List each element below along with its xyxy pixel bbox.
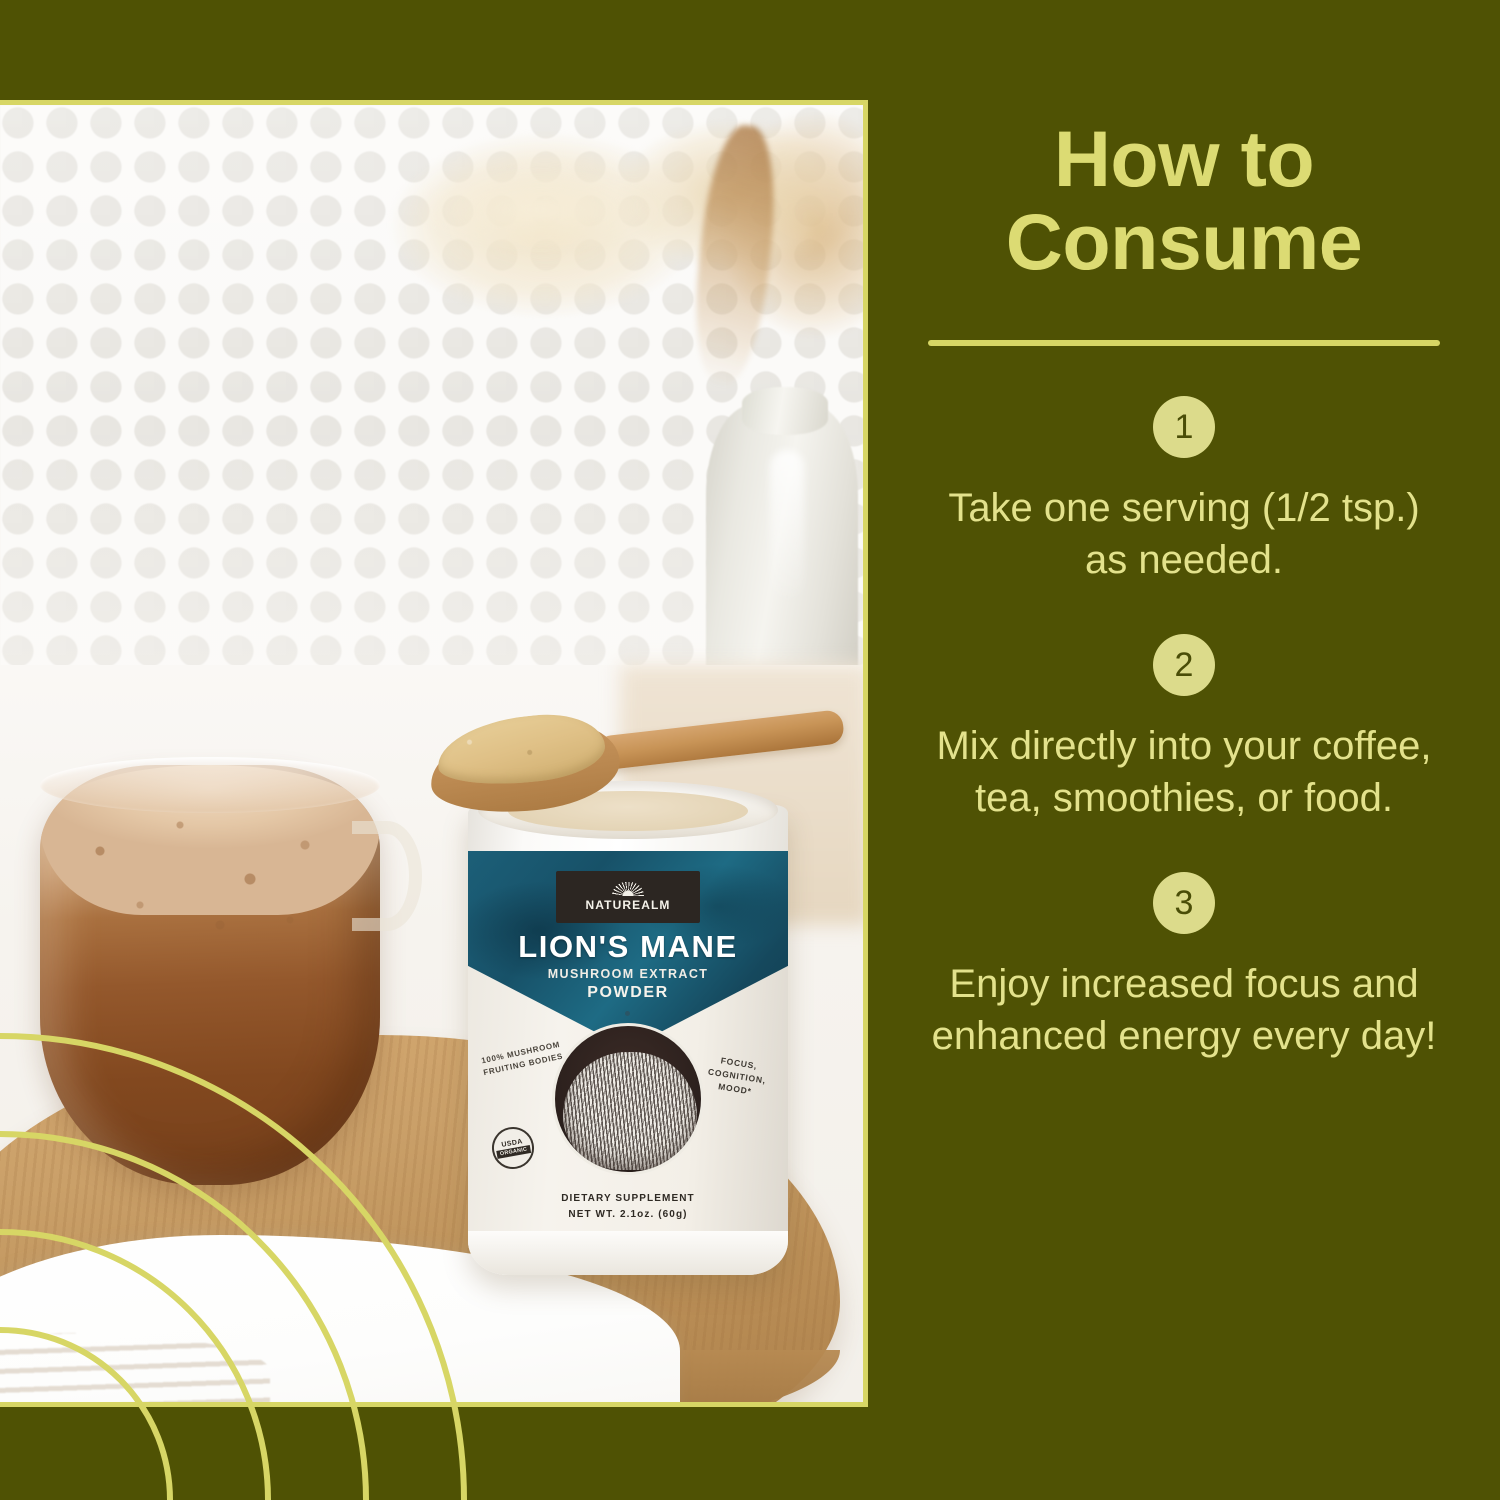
step-text-3: Enjoy increased focus and enhanced energ… [924, 958, 1444, 1062]
label-footer: DIETARY SUPPLEMENT NET WT. 2.1oz. (60g) [468, 1191, 788, 1222]
brand-name: NATUREALM [586, 898, 671, 912]
product-photo: NATUREALM LION'S MANE MUSHROOM EXTRACT P… [0, 105, 863, 1402]
label-subtitle-line1: MUSHROOM EXTRACT [468, 967, 788, 981]
glass-mug-of-coffee [40, 765, 380, 1185]
step-text-2: Mix directly into your coffee, tea, smoo… [924, 720, 1444, 824]
ceramic-vase-highlight [770, 450, 804, 600]
brand-plate: NATUREALM [556, 871, 700, 923]
step-number-badge-3: 3 [1153, 872, 1215, 934]
label-benefit-claim: FOCUS, COGNITION, MOOD* [699, 1052, 774, 1101]
steps-list: 1 Take one serving (1/2 tsp.) as needed.… [902, 396, 1466, 1062]
title-underline-rule [928, 340, 1440, 346]
usda-organic-seal-icon: USDA ORGANIC [489, 1124, 538, 1173]
page-title: How to Consume [902, 118, 1466, 284]
label-footer-line2: NET WT. 2.1oz. (60g) [468, 1207, 788, 1223]
step-number-badge-2: 2 [1153, 634, 1215, 696]
glass-mug-handle [352, 821, 422, 931]
product-photo-panel: NATUREALM LION'S MANE MUSHROOM EXTRACT P… [0, 100, 868, 1407]
lions-mane-mushroom-illustration [552, 1023, 704, 1175]
pampas-grass-wisp [360, 145, 720, 275]
glass-mug-rim [40, 757, 380, 813]
step-item-1: 1 Take one serving (1/2 tsp.) as needed. [902, 396, 1466, 586]
label-side-claim: 100% MUSHROOM FRUITING BODIES [479, 1039, 566, 1079]
label-footer-line1: DIETARY SUPPLEMENT [468, 1191, 788, 1207]
step-number-badge-1: 1 [1153, 396, 1215, 458]
mushroom-line-art-icon [563, 1052, 697, 1170]
label-divider-dot [625, 1011, 630, 1016]
instructions-panel: How to Consume 1 Take one serving (1/2 t… [868, 0, 1500, 1500]
sunrise-logo-icon [612, 882, 644, 896]
step-text-1: Take one serving (1/2 tsp.) as needed. [924, 482, 1444, 586]
ceramic-vase-neck [742, 387, 828, 435]
jar-base [468, 1231, 788, 1275]
label-product-title: LION'S MANE [468, 929, 788, 965]
step-item-2: 2 Mix directly into your coffee, tea, sm… [902, 634, 1466, 824]
product-label: NATUREALM LION'S MANE MUSHROOM EXTRACT P… [468, 851, 788, 1231]
label-subtitle-line2: POWDER [468, 984, 788, 1002]
step-item-3: 3 Enjoy increased focus and enhanced ene… [902, 872, 1466, 1062]
product-jar: NATUREALM LION'S MANE MUSHROOM EXTRACT P… [468, 805, 788, 1275]
coffee-bubbles [40, 785, 380, 985]
